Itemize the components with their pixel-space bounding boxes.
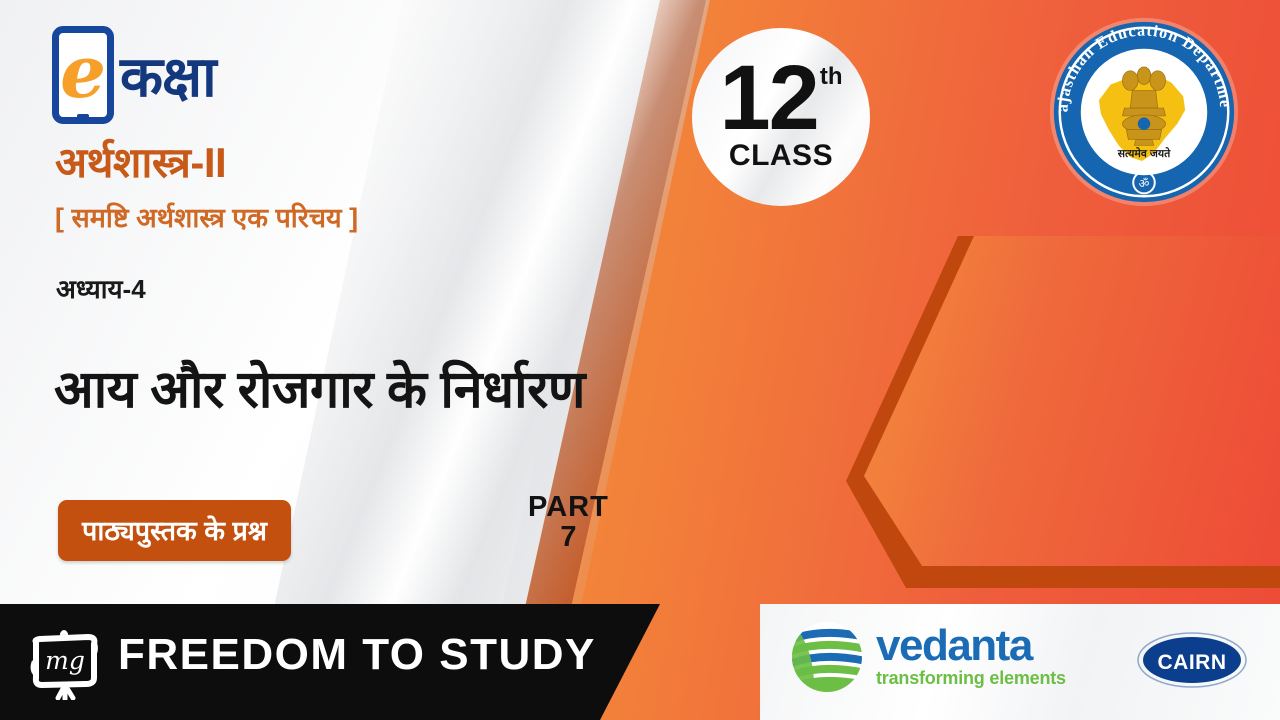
page-title: आय और रोजगार के निर्धारण [54, 352, 585, 423]
part-indicator: PART 7 [528, 492, 609, 554]
class-ordinal: th [820, 67, 843, 87]
seal-motto: सत्यमेव जयते [1117, 147, 1171, 160]
mg-logo-icon: mg [28, 628, 102, 700]
vedanta-globe-icon [790, 620, 864, 694]
svg-text:ॐ: ॐ [1139, 177, 1150, 190]
chapter-label: अध्याय-4 [56, 270, 146, 306]
vedanta-name: vedanta [876, 625, 1066, 667]
logo-letter-e: e [60, 36, 106, 108]
instructors-photo-panel: mg [846, 236, 1280, 588]
vedanta-tagline: transforming elements [876, 668, 1066, 689]
rajasthan-education-department-seal: Rajasthan Education Department सत्यमेव ज… [1046, 14, 1242, 210]
footer-tagline: FREEDOM TO STUDY [118, 630, 596, 680]
subject-title: अर्थशास्त्र-II [55, 133, 226, 190]
phone-icon: e [52, 26, 114, 124]
class-number-row: 12 th [720, 61, 843, 136]
photo-inner: mg [846, 236, 1280, 566]
thumbnail-canvas: 12 th CLASS e कक्षा अर्थशास्त्र-II [ समष… [0, 0, 1280, 720]
class-word: CLASS [729, 139, 833, 173]
textbook-questions-badge: पाठ्यपुस्तक के प्रश्न [58, 500, 291, 561]
vedanta-text-block: vedanta transforming elements [876, 625, 1066, 689]
logo-word: कक्षा [120, 37, 216, 113]
cairn-logo: CAIRN [1136, 631, 1248, 689]
subject-subtitle: [ समष्टि अर्थशास्त्र एक परिचय ] [55, 198, 358, 235]
cairn-name: CAIRN [1158, 651, 1227, 674]
class-badge: 12 th CLASS [692, 28, 870, 206]
class-number: 12 [720, 61, 818, 136]
photo-background [846, 236, 1280, 566]
mg-logo-text: mg [45, 646, 85, 675]
part-number: 7 [528, 522, 609, 554]
part-label: PART [528, 492, 609, 522]
ekaksha-logo: e कक्षा [52, 26, 216, 124]
vedanta-logo: vedanta transforming elements [790, 620, 1066, 694]
